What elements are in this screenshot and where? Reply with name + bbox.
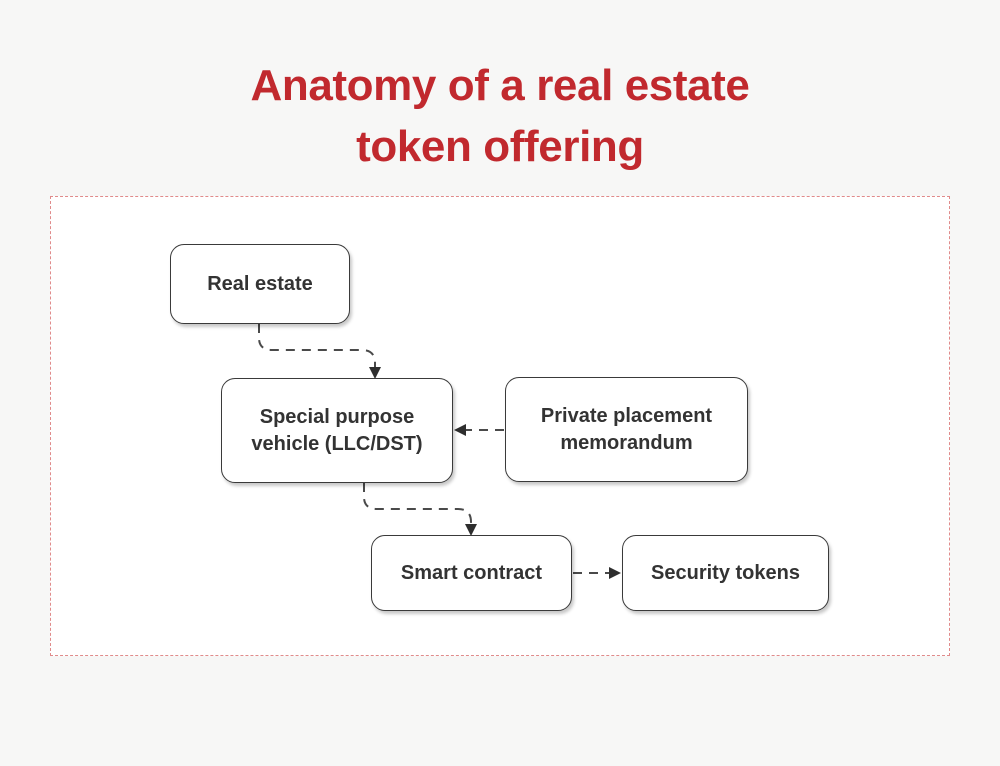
node-security-tokens[interactable]: Security tokens — [622, 535, 829, 611]
node-real-estate[interactable]: Real estate — [170, 244, 350, 324]
node-special-purpose-vehicle[interactable]: Special purpose vehicle (LLC/DST) — [221, 378, 453, 483]
node-private-placement-memorandum[interactable]: Private placement memorandum — [505, 377, 748, 482]
node-smart-contract[interactable]: Smart contract — [371, 535, 572, 611]
diagram-page: Anatomy of a real estate token offering … — [0, 0, 1000, 766]
page-title: Anatomy of a real estate token offering — [0, 56, 1000, 177]
